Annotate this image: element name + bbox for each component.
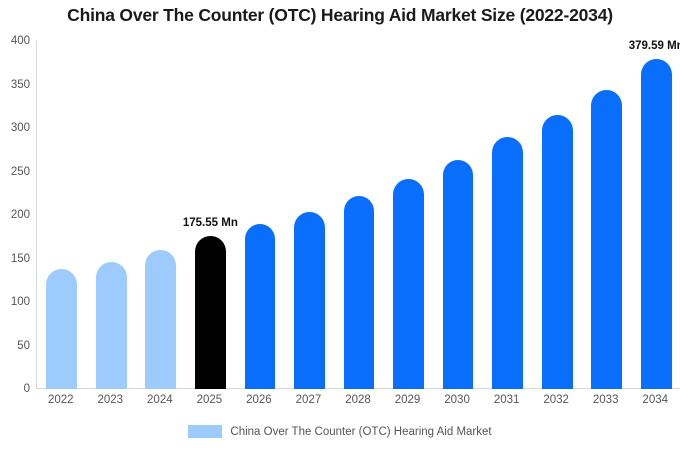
chart-title: China Over The Counter (OTC) Hearing Aid… <box>0 5 680 26</box>
bar-2034[interactable] <box>641 59 672 389</box>
bar-slot <box>542 41 573 389</box>
value-label-2025: 175.55 Mn <box>165 217 255 229</box>
x-axis-tick-label: 2026 <box>234 394 284 406</box>
bar-slot <box>492 41 523 389</box>
bar-2033[interactable] <box>591 90 622 389</box>
y-axis-tick-label: 400 <box>0 35 30 47</box>
bar-slot <box>145 41 176 389</box>
x-axis-tick-label: 2022 <box>36 394 86 406</box>
x-axis-tick-label: 2030 <box>432 394 482 406</box>
x-axis-tick-label: 2032 <box>531 394 581 406</box>
y-axis-tick-label: 200 <box>0 209 30 221</box>
bar-2026[interactable] <box>245 224 276 389</box>
bar-2031[interactable] <box>492 137 523 389</box>
y-axis-tick-label: 350 <box>0 79 30 91</box>
y-axis-tick-label: 100 <box>0 296 30 308</box>
x-axis-tick-label: 2028 <box>333 394 383 406</box>
bar-slot <box>641 41 672 389</box>
x-axis-tick-label: 2023 <box>86 394 136 406</box>
x-axis-tick-label: 2034 <box>630 394 680 406</box>
legend-label: China Over The Counter (OTC) Hearing Aid… <box>230 426 491 438</box>
y-axis-tick-label: 150 <box>0 253 30 265</box>
bar-slot <box>294 41 325 389</box>
chart-container: China Over The Counter (OTC) Hearing Aid… <box>0 0 680 450</box>
bar-2027[interactable] <box>294 212 325 389</box>
bar-slot <box>443 41 474 389</box>
bar-2032[interactable] <box>542 115 573 389</box>
bar-slot <box>245 41 276 389</box>
bar-slot <box>195 41 226 389</box>
plot-area <box>36 41 680 389</box>
y-axis-tick-label: 0 <box>0 383 30 395</box>
y-axis-tick-label: 50 <box>0 340 30 352</box>
bar-2029[interactable] <box>393 179 424 389</box>
bar-2028[interactable] <box>344 196 375 389</box>
bar-slot <box>96 41 127 389</box>
x-axis-tick-label: 2024 <box>135 394 185 406</box>
x-axis-tick-label: 2031 <box>482 394 532 406</box>
bar-slot <box>344 41 375 389</box>
bar-2030[interactable] <box>443 160 474 389</box>
y-axis-tick-label: 300 <box>0 122 30 134</box>
bar-2023[interactable] <box>96 262 127 389</box>
x-axis-tick-label: 2025 <box>185 394 235 406</box>
chart-legend: China Over The Counter (OTC) Hearing Aid… <box>0 425 680 438</box>
bars-layer <box>37 41 680 389</box>
x-axis-tick-label: 2033 <box>581 394 631 406</box>
legend-swatch <box>188 425 222 438</box>
bar-slot <box>393 41 424 389</box>
bar-2025[interactable] <box>195 236 226 389</box>
y-axis-tick-label: 250 <box>0 166 30 178</box>
x-axis-tick-label: 2027 <box>284 394 334 406</box>
bar-slot <box>46 41 77 389</box>
bar-2022[interactable] <box>46 269 77 389</box>
bar-slot <box>591 41 622 389</box>
value-label-2034: 379.59 Mn <box>611 40 680 52</box>
bar-2024[interactable] <box>145 250 176 389</box>
x-axis-ticks: 2022202320242025202620272028202920302031… <box>36 394 680 412</box>
x-axis-tick-label: 2029 <box>383 394 433 406</box>
